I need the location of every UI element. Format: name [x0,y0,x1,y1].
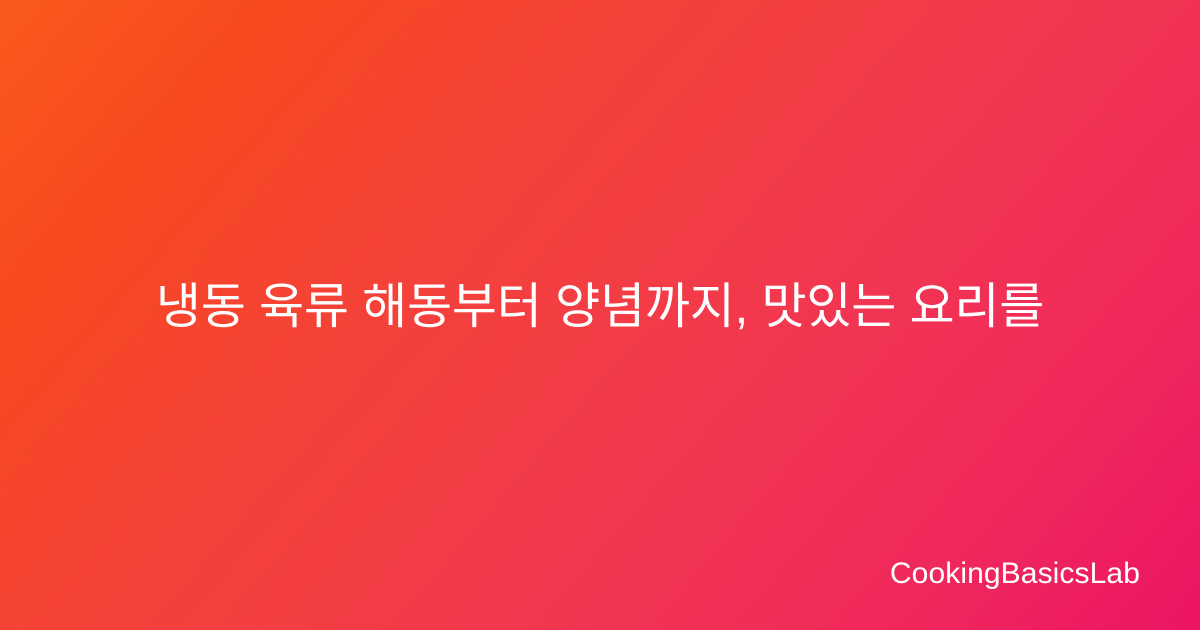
page-title: 냉동 육류 해동부터 양념까지, 맛있는 요리를 [85,264,1115,350]
site-brand-name: CookingBasicsLab [890,556,1140,592]
share-card: 냉동 육류 해동부터 양념까지, 맛있는 요리를 CookingBasicsLa… [0,0,1200,630]
card-content-area: 냉동 육류 해동부터 양념까지, 맛있는 요리를 [0,0,1200,630]
